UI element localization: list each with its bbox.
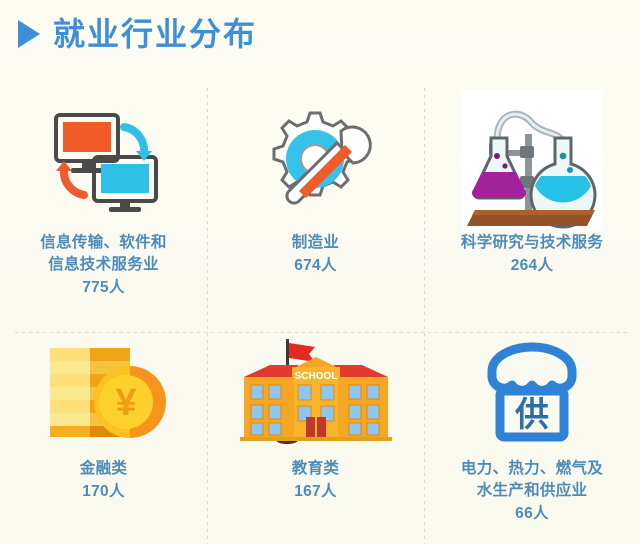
industry-label-line-1: 金融类 (80, 458, 127, 480)
industry-count: 264人 (511, 254, 554, 277)
gold-coins-yuan-icon: ¥ (34, 334, 174, 452)
industry-label-line-1: 科学研究与技术服务 (461, 232, 603, 254)
svg-text:¥: ¥ (115, 382, 136, 424)
industry-label-line-2: 信息技术服务业 (40, 254, 166, 276)
industry-cell-utilities[interactable]: 供 电力、热力、燃气及 水生产和供应业 66人 (424, 332, 640, 544)
industry-label: 制造业 (292, 232, 339, 254)
supply-glyph: 供 (514, 396, 549, 434)
industry-label-line-1: 电力、热力、燃气及 (461, 458, 603, 480)
infographic-page: 就业行业分布 (0, 0, 640, 544)
industry-cell-it[interactable]: 信息传输、软件和 信息技术服务业 775人 (0, 88, 207, 332)
vertical-divider-2 (424, 88, 425, 544)
computers-exchange-icon (40, 96, 168, 226)
industry-label-line-1: 信息传输、软件和 (40, 232, 166, 254)
gear-wrench-icon (255, 96, 377, 226)
horizontal-divider (15, 332, 630, 333)
laboratory-flasks-icon (457, 96, 607, 226)
industry-grid: 信息传输、软件和 信息技术服务业 775人 (0, 88, 640, 544)
industry-cell-finance[interactable]: ¥ 金融类 170人 (0, 332, 207, 544)
industry-count: 66人 (515, 502, 549, 525)
svg-text:SCHOOL: SCHOOL (294, 371, 337, 382)
industry-count: 775人 (82, 276, 125, 299)
industry-label-line-1: 制造业 (292, 232, 339, 254)
school-building-icon: SCHOOL (236, 334, 396, 452)
industry-count: 674人 (294, 254, 337, 277)
page-title: 就业行业分布 (18, 18, 257, 50)
industry-cell-research[interactable]: 科学研究与技术服务 264人 (424, 88, 640, 332)
industry-label: 教育类 (292, 458, 339, 480)
vertical-divider-1 (207, 88, 208, 544)
industry-label: 金融类 (80, 458, 127, 480)
industry-label: 科学研究与技术服务 (461, 232, 603, 254)
industry-label: 电力、热力、燃气及 水生产和供应业 (461, 458, 603, 502)
page-title-text: 就业行业分布 (53, 18, 257, 50)
industry-cell-education[interactable]: SCHOOL (207, 332, 424, 544)
play-triangle-icon (18, 20, 40, 48)
industry-label: 信息传输、软件和 信息技术服务业 (40, 232, 166, 276)
industry-count: 170人 (82, 480, 125, 503)
industry-count: 167人 (294, 480, 337, 503)
supply-store-icon: 供 (480, 334, 584, 452)
industry-label-line-2: 水生产和供应业 (461, 480, 603, 502)
industry-label-line-1: 教育类 (292, 458, 339, 480)
industry-cell-manufacturing[interactable]: 制造业 674人 (207, 88, 424, 332)
